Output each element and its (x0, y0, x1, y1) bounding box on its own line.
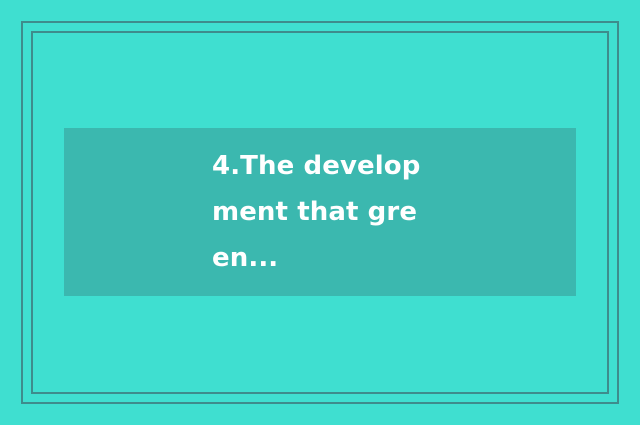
thumbnail-canvas: 4.The development that green... (0, 0, 640, 425)
content-card: 4.The development that green... (64, 128, 576, 296)
card-title: 4.The development that green... (212, 143, 428, 281)
